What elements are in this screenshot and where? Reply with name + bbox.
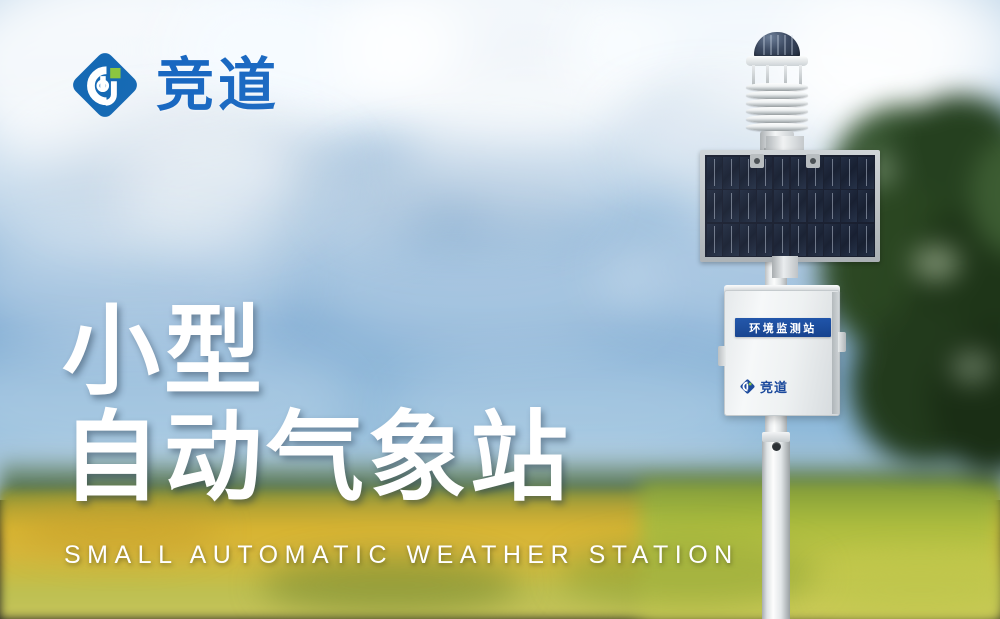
solar-cell: [858, 157, 873, 189]
brand-lockup[interactable]: 竞道: [68, 48, 280, 122]
solar-cell: [808, 190, 823, 222]
solar-cell: [824, 190, 839, 222]
solar-cell-grid: [705, 155, 875, 257]
cloud-shadow-shape: [330, 150, 590, 240]
solar-cell: [757, 190, 772, 222]
enclosure-latch-right: [838, 332, 846, 352]
solar-cell: [723, 224, 738, 256]
pole-collar: [762, 432, 790, 442]
solar-cell: [858, 224, 873, 256]
enclosure-brand-lockup: 竞道: [739, 377, 788, 396]
enclosure-latch-left: [718, 346, 726, 366]
solar-cell: [774, 157, 789, 189]
cloud-shape: [330, 0, 670, 150]
product-banner: 环境监测站 竞道: [0, 0, 1000, 619]
solar-cell: [740, 224, 755, 256]
solar-cell: [824, 157, 839, 189]
solar-cell: [824, 224, 839, 256]
cloud-shape: [120, 130, 440, 260]
solar-cell: [841, 157, 856, 189]
solar-cell: [723, 190, 738, 222]
panel-bracket: [772, 256, 798, 278]
solar-cell: [707, 190, 722, 222]
mounting-pole-lower: [762, 438, 790, 619]
weather-station-product: 环境监测站 竞道: [690, 28, 890, 619]
solar-cell: [841, 224, 856, 256]
solar-cell: [808, 224, 823, 256]
solar-panel-frame: [700, 150, 880, 262]
jingdao-diamond-logo-icon: [68, 48, 142, 122]
solar-cell: [740, 190, 755, 222]
panel-clamp-right: [806, 154, 820, 168]
enclosure-side-shading: [832, 292, 842, 414]
solar-cell: [757, 224, 772, 256]
equipment-enclosure-icon: 环境监测站 竞道: [724, 290, 840, 416]
panel-clamp-left: [750, 154, 764, 168]
solar-cell: [791, 224, 806, 256]
solar-cell: [707, 224, 722, 256]
solar-cell: [774, 224, 789, 256]
pole-bolt: [772, 442, 781, 451]
solar-panel-icon: [700, 150, 880, 275]
enclosure-label: 环境监测站: [735, 318, 831, 337]
headline-block: 小型 自动气象站: [62, 300, 572, 512]
sensor-legs: [750, 65, 804, 85]
headline-line-1: 小型: [62, 300, 572, 406]
cloud-shadow-shape: [40, 120, 340, 230]
solar-cell: [707, 157, 722, 189]
brand-name: 竞道: [156, 56, 280, 114]
headline-line-2: 自动气象站: [62, 406, 572, 512]
sensor-dome: [754, 32, 800, 58]
solar-cell: [723, 157, 738, 189]
solar-cell: [774, 190, 789, 222]
solar-cell: [791, 190, 806, 222]
cloud-shape: [400, 75, 680, 225]
solar-cell: [858, 190, 873, 222]
jingdao-diamond-logo-icon: [739, 378, 756, 395]
enclosure-brand-text: 竞道: [760, 377, 788, 396]
solar-cell: [841, 190, 856, 222]
solar-cell: [791, 157, 806, 189]
radiation-shield-icon: [746, 83, 808, 133]
subtitle-text: SMALL AUTOMATIC WEATHER STATION: [64, 541, 739, 570]
